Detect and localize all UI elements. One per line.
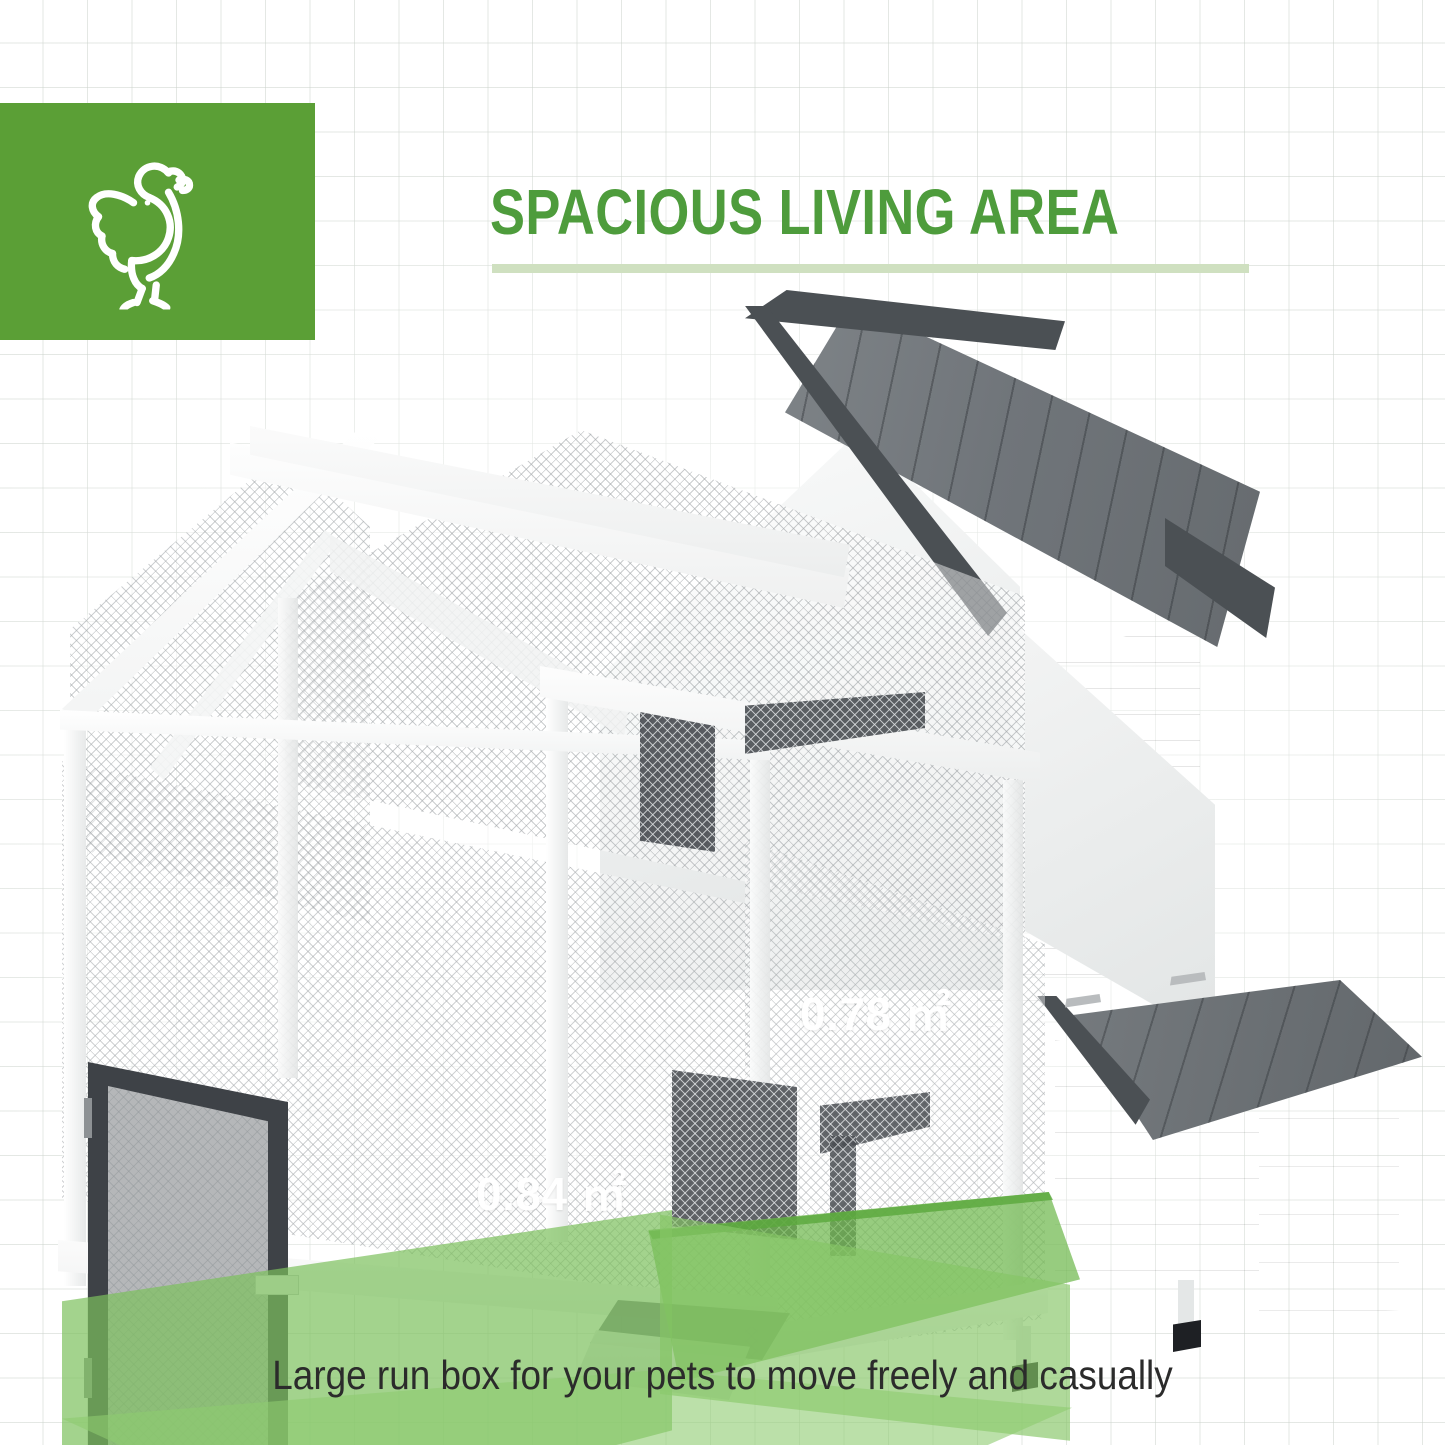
coop-foot-cap-right <box>1173 1320 1201 1352</box>
product-image: 0.78 ㎡ 0.84 ㎡ <box>0 280 1445 1350</box>
upper-platform-area-label: 0.78 ㎡ <box>800 978 951 1044</box>
coop-window-left <box>672 1070 797 1240</box>
run-floor-area-value: 0.84 ㎡ <box>476 1168 627 1220</box>
title-underline-rule <box>492 264 1249 273</box>
run-door-hinge-top <box>84 1098 92 1138</box>
run-floor-area-label: 0.84 ㎡ <box>476 1158 627 1224</box>
caption-text: Large run box for your pets to move free… <box>72 1352 1373 1399</box>
nesting-box-side <box>1259 1070 1399 1320</box>
coop-upper-vent-left <box>640 712 715 852</box>
infographic-page: SPACIOUS LIVING AREA <box>0 0 1445 1445</box>
run-post-left-front <box>64 726 86 1286</box>
upper-platform-area-value: 0.78 ㎡ <box>800 988 951 1040</box>
run-post-left-back <box>278 598 298 1078</box>
page-title: SPACIOUS LIVING AREA <box>490 176 1138 248</box>
